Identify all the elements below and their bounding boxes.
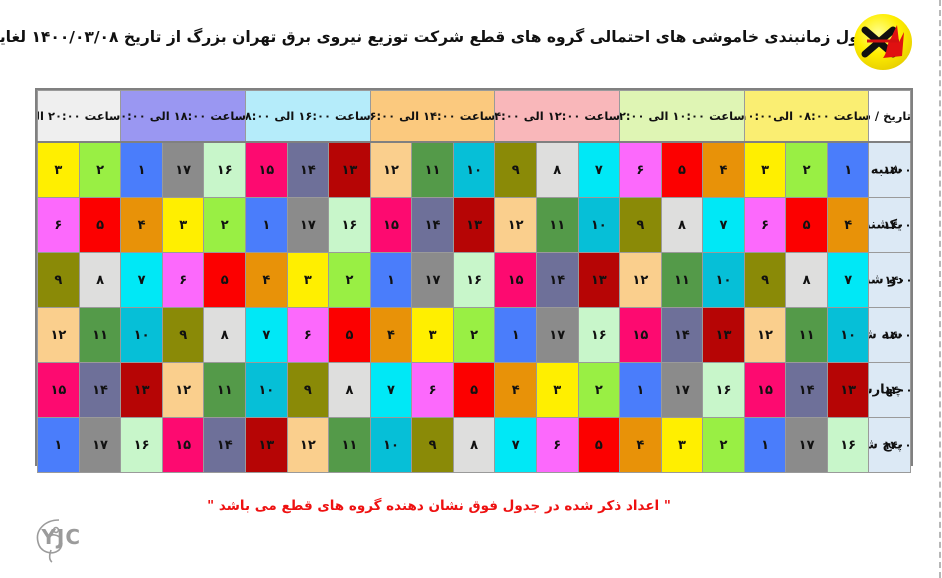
outage-group-cell: ۹ [39, 253, 81, 308]
outage-group-cell: ۵ [454, 363, 496, 418]
outage-group-cell: ۹ [288, 363, 330, 418]
outage-group-cell: ۱۶ [828, 418, 870, 473]
day-date-cell: پنج شنبه۱۴۰۰/۰۳/۱۳ [870, 418, 912, 473]
outage-group-cell: ۹ [413, 418, 455, 473]
outage-group-cell: ۱۵ [247, 142, 289, 198]
outage-group-cell: ۸ [80, 253, 122, 308]
outage-group-cell: ۱۴ [662, 308, 704, 363]
outage-group-cell: ۶ [163, 253, 205, 308]
page-title: جدول زمانبندی خاموشی های احتمالی گروه ها… [0, 28, 880, 46]
outage-group-cell: ۲ [454, 308, 496, 363]
day-date-cell: شنبه۱۴۰۰/۰۳/۰۸ [870, 142, 912, 198]
outage-group-cell: ۱۲ [496, 198, 538, 253]
outage-group-cell: ۵ [80, 198, 122, 253]
outage-group-cell: ۱۳ [330, 142, 372, 198]
outage-group-cell: ۱۶ [122, 418, 164, 473]
outage-group-cell: ۷ [247, 308, 289, 363]
table-row: دو شنبه۱۴۰۰/۰۳/۱۰۷۸۹۱۰۱۱۱۲۱۳۱۴۱۵۱۶۱۷۱۲۳۴… [39, 253, 912, 308]
outage-group-cell: ۱۶ [579, 308, 621, 363]
header-time-slot: ساعت ۱۴:۰۰ الی ۱۶:۰۰ [371, 91, 496, 143]
outage-group-cell: ۱۱ [80, 308, 122, 363]
outage-group-cell: ۱۰ [454, 142, 496, 198]
outage-group-cell: ۵ [205, 253, 247, 308]
outage-group-cell: ۷ [371, 363, 413, 418]
outage-group-cell: ۴ [371, 308, 413, 363]
outage-group-cell: ۶ [39, 198, 81, 253]
outage-group-cell: ۱۵ [496, 253, 538, 308]
day-date: ۱۴۰۰/۰۳/۱۲ [885, 383, 911, 397]
header-time-slot: ساعت ۰۸:۰۰ الی۱۰:۰۰ [745, 91, 870, 143]
outage-group-cell: ۱۷ [537, 308, 579, 363]
day-date: ۱۴۰۰/۰۳/۰۸ [884, 163, 911, 177]
day-date-cell: چهارشنبه۱۴۰۰/۰۳/۱۲ [870, 363, 912, 418]
outage-group-cell: ۱ [122, 142, 164, 198]
outage-group-cell: ۴ [621, 418, 663, 473]
outage-group-cell: ۱۳ [828, 363, 870, 418]
outage-group-cell: ۱۵ [621, 308, 663, 363]
outage-group-cell: ۱۷ [787, 418, 829, 473]
outage-group-cell: ۱ [496, 308, 538, 363]
outage-group-cell: ۱ [371, 253, 413, 308]
outage-group-cell: ۱۷ [662, 363, 704, 418]
table-head: تاریخ / ساعت ساعت ۰۸:۰۰ الی۱۰:۰۰ساعت ۱۰:… [39, 91, 912, 143]
outage-group-cell: ۴ [704, 142, 746, 198]
outage-group-cell: ۱۳ [579, 253, 621, 308]
header-time-slot: ساعت ۱۶:۰۰ الی ۱۸:۰۰ [247, 91, 372, 143]
outage-group-cell: ۵ [662, 142, 704, 198]
outage-group-cell: ۱۵ [163, 418, 205, 473]
outage-group-cell: ۱۱ [205, 363, 247, 418]
outage-group-cell: ۵ [787, 198, 829, 253]
outage-group-cell: ۷ [828, 253, 870, 308]
day-date-cell: سه شنبه۱۴۰۰/۰۳/۱۱ [870, 308, 912, 363]
outage-group-cell: ۸ [330, 363, 372, 418]
outage-group-cell: ۹ [745, 253, 787, 308]
day-date: ۱۴۰۰/۰۳/۱۳ [884, 438, 911, 452]
table-row: چهارشنبه۱۴۰۰/۰۳/۱۲۱۳۱۴۱۵۱۶۱۷۱۲۳۴۵۶۷۸۹۱۰۱… [39, 363, 912, 418]
outage-group-cell: ۳ [745, 142, 787, 198]
table-row: سه شنبه۱۴۰۰/۰۳/۱۱۱۰۱۱۱۲۱۳۱۴۱۵۱۶۱۷۱۲۳۴۵۶۷… [39, 308, 912, 363]
outage-group-cell: ۱۶ [330, 198, 372, 253]
outage-group-cell: ۲ [330, 253, 372, 308]
page-header: جدول زمانبندی خاموشی های احتمالی گروه ها… [0, 0, 942, 88]
outage-group-cell: ۸ [787, 253, 829, 308]
outage-group-cell: ۷ [496, 418, 538, 473]
outage-group-cell: ۵ [579, 418, 621, 473]
outage-group-cell: ۱۰ [579, 198, 621, 253]
outage-group-cell: ۶ [745, 198, 787, 253]
outage-group-cell: ۴ [496, 363, 538, 418]
outage-group-cell: ۱ [247, 198, 289, 253]
outage-group-cell: ۱۵ [371, 198, 413, 253]
outage-group-cell: ۱۶ [704, 363, 746, 418]
outage-group-cell: ۱۶ [454, 253, 496, 308]
header-time-slot: ساعت ۱۰:۰۰ الی ۱۲:۰۰ [621, 91, 746, 143]
outage-group-cell: ۸ [205, 308, 247, 363]
outage-group-cell: ۱۱ [662, 253, 704, 308]
table-header-row: تاریخ / ساعت ساعت ۰۸:۰۰ الی۱۰:۰۰ساعت ۱۰:… [39, 91, 912, 143]
outage-group-cell: ۱۲ [288, 418, 330, 473]
outage-group-cell: ۱۴ [413, 198, 455, 253]
outage-group-cell: ۳ [163, 198, 205, 253]
outage-group-cell: ۱۷ [413, 253, 455, 308]
outage-group-cell: ۳ [39, 142, 81, 198]
outage-group-cell: ۱۱ [537, 198, 579, 253]
outage-group-cell: ۲ [205, 198, 247, 253]
outage-group-cell: ۱۳ [704, 308, 746, 363]
outage-group-cell: ۳ [662, 418, 704, 473]
outage-group-cell: ۲ [787, 142, 829, 198]
table-body: شنبه۱۴۰۰/۰۳/۰۸۱۲۳۴۵۶۷۸۹۱۰۱۱۱۲۱۳۱۴۱۵۱۶۱۷۱… [39, 142, 912, 473]
outage-group-cell: ۶ [621, 142, 663, 198]
outage-group-cell: ۳ [413, 308, 455, 363]
outage-group-cell: ۱۱ [413, 142, 455, 198]
outage-group-cell: ۶ [288, 308, 330, 363]
header-time-slot: ساعت ۱۲:۰۰ الی ۱۴:۰۰ [496, 91, 621, 143]
outage-group-cell: ۱۴ [537, 253, 579, 308]
day-date: ۱۴۰۰/۰۳/۱۱ [884, 328, 911, 342]
outage-group-cell: ۱۰ [371, 418, 413, 473]
day-date-cell: دو شنبه۱۴۰۰/۰۳/۱۰ [870, 253, 912, 308]
outage-group-cell: ۶ [413, 363, 455, 418]
outage-group-cell: ۱۲ [163, 363, 205, 418]
day-date: ۱۴۰۰/۰۳/۱۰ [885, 273, 911, 287]
outage-group-cell: ۱۲ [745, 308, 787, 363]
outage-group-cell: ۱۷ [288, 198, 330, 253]
outage-group-cell: ۱۲ [39, 308, 81, 363]
outage-group-cell: ۸ [454, 418, 496, 473]
outage-group-cell: ۱۴ [787, 363, 829, 418]
outage-group-cell: ۱۳ [247, 418, 289, 473]
page-root: جدول زمانبندی خاموشی های احتمالی گروه ها… [0, 0, 942, 578]
outage-group-cell: ۴ [122, 198, 164, 253]
svg-text:YJC: YJC [41, 525, 82, 549]
outage-group-cell: ۱۲ [621, 253, 663, 308]
outage-group-cell: ۱۱ [330, 418, 372, 473]
header-time-slot: ساعت ۱۸:۰۰ الی ۲۰:۰۰ [122, 91, 247, 143]
outage-group-cell: ۶ [537, 418, 579, 473]
yjc-logo-icon: YJC [30, 512, 150, 564]
outage-group-cell: ۱ [621, 363, 663, 418]
outage-group-cell: ۲ [704, 418, 746, 473]
table-row: پنج شنبه۱۴۰۰/۰۳/۱۳۱۶۱۷۱۲۳۴۵۶۷۸۹۱۰۱۱۱۲۱۳۱… [39, 418, 912, 473]
outage-group-cell: ۱۷ [80, 418, 122, 473]
outage-group-cell: ۱۳ [454, 198, 496, 253]
outage-schedule-table: تاریخ / ساعت ساعت ۰۸:۰۰ الی۱۰:۰۰ساعت ۱۰:… [38, 90, 912, 473]
table-row: یکشنبه۱۴۰۰/۰۳/۰۹۴۵۶۷۸۹۱۰۱۱۱۲۱۳۱۴۱۵۱۶۱۷۱۲… [39, 198, 912, 253]
outage-group-cell: ۷ [704, 198, 746, 253]
outage-group-cell: ۹ [496, 142, 538, 198]
outage-group-cell: ۱۳ [122, 363, 164, 418]
outage-group-cell: ۲ [579, 363, 621, 418]
outage-group-cell: ۱۷ [163, 142, 205, 198]
outage-group-cell: ۱۰ [704, 253, 746, 308]
header-date-hour: تاریخ / ساعت [870, 91, 912, 143]
outage-group-cell: ۱۰ [247, 363, 289, 418]
outage-group-cell: ۱۰ [828, 308, 870, 363]
outage-group-cell: ۱۵ [39, 363, 81, 418]
outage-group-cell: ۸ [662, 198, 704, 253]
outage-group-cell: ۱۴ [205, 418, 247, 473]
outage-group-cell: ۱ [39, 418, 81, 473]
outage-group-cell: ۱۱ [787, 308, 829, 363]
outage-group-cell: ۱ [828, 142, 870, 198]
tavanir-electricity-logo-icon [848, 8, 920, 76]
table-row: شنبه۱۴۰۰/۰۳/۰۸۱۲۳۴۵۶۷۸۹۱۰۱۱۱۲۱۳۱۴۱۵۱۶۱۷۱… [39, 142, 912, 198]
outage-schedule-table-wrapper: تاریخ / ساعت ساعت ۰۸:۰۰ الی۱۰:۰۰ساعت ۱۰:… [36, 88, 914, 466]
outage-group-cell: ۹ [621, 198, 663, 253]
outage-group-cell: ۲ [80, 142, 122, 198]
outage-group-cell: ۴ [828, 198, 870, 253]
outage-group-cell: ۷ [579, 142, 621, 198]
day-date: ۱۴۰۰/۰۳/۰۹ [884, 218, 911, 232]
outage-group-cell: ۷ [122, 253, 164, 308]
outage-group-cell: ۹ [163, 308, 205, 363]
outage-group-cell: ۱ [745, 418, 787, 473]
outage-group-cell: ۸ [537, 142, 579, 198]
outage-group-cell: ۱۴ [288, 142, 330, 198]
outage-group-cell: ۱۵ [745, 363, 787, 418]
outage-group-cell: ۵ [330, 308, 372, 363]
header-time-slot: ساعت ۲۰:۰۰ الی ۲۲:۰۰ [39, 91, 122, 143]
outage-group-cell: ۱۰ [122, 308, 164, 363]
outage-group-cell: ۴ [247, 253, 289, 308]
outage-group-cell: ۱۴ [80, 363, 122, 418]
day-date-cell: یکشنبه۱۴۰۰/۰۳/۰۹ [870, 198, 912, 253]
outage-group-cell: ۱۶ [205, 142, 247, 198]
outage-group-cell: ۳ [288, 253, 330, 308]
outage-group-cell: ۳ [537, 363, 579, 418]
outage-group-cell: ۱۲ [371, 142, 413, 198]
